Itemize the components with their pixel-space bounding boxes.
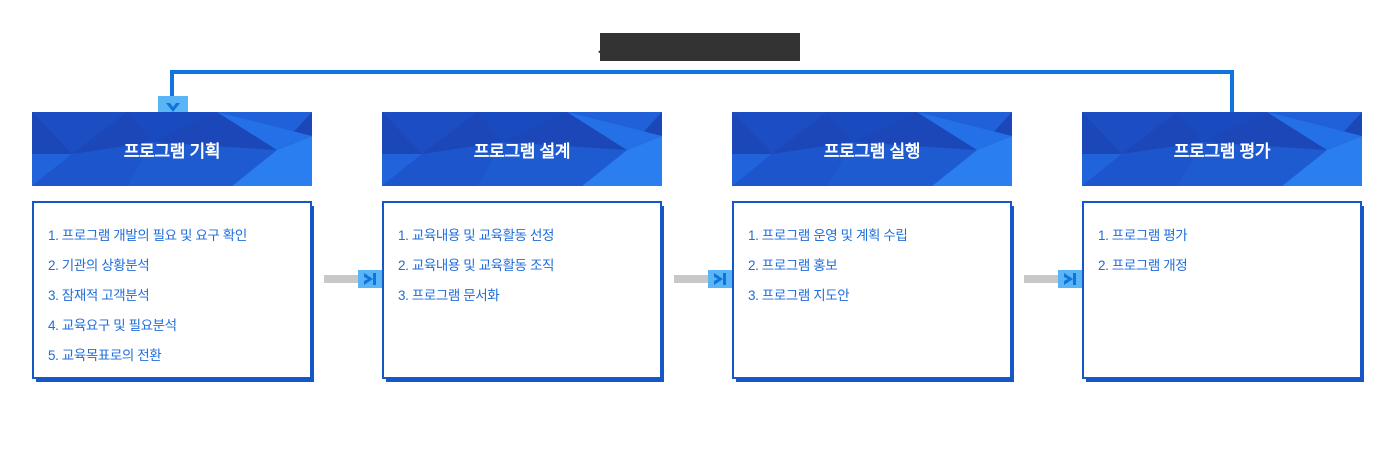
- top-connector-right-drop: [1230, 70, 1234, 112]
- diagram-title: 프로그램: [560, 26, 860, 68]
- list-item: 1. 프로그램 평가: [1084, 221, 1360, 251]
- stage-body-1: 1. 프로그램 개발의 필요 및 요구 확인 2. 기관의 상황분석 3. 잠재…: [32, 201, 312, 379]
- stage-card-4[interactable]: 프로그램 평가 1. 프로그램 평가 2. 프로그램 개정: [1082, 112, 1362, 379]
- list-item: 2. 프로그램 개정: [1084, 251, 1360, 281]
- stage-item-list-1: 1. 프로그램 개발의 필요 및 요구 확인 2. 기관의 상황분석 3. 잠재…: [34, 203, 310, 371]
- right-arrow-icon: [1058, 270, 1082, 288]
- connector-arrow-1-2: [324, 270, 382, 288]
- list-item: 1. 프로그램 개발의 필요 및 요구 확인: [34, 221, 310, 251]
- list-item: 1. 교육내용 및 교육활동 선정: [384, 221, 660, 251]
- stage-header-2: 프로그램 설계: [382, 112, 662, 186]
- list-item: 2. 프로그램 홍보: [734, 251, 1010, 281]
- connector-arrow-2-3: [674, 270, 732, 288]
- top-connector-left-drop: [170, 70, 174, 98]
- stage-header-label-2: 프로그램 설계: [474, 137, 570, 162]
- stage-card-3[interactable]: 프로그램 실행 1. 프로그램 운영 및 계획 수립 2. 프로그램 홍보 3.…: [732, 112, 1012, 379]
- list-item: 4. 교육요구 및 필요분석: [34, 311, 310, 341]
- list-item: 3. 프로그램 문서화: [384, 281, 660, 311]
- stage-body-2: 1. 교육내용 및 교육활동 선정 2. 교육내용 및 교육활동 조직 3. 프…: [382, 201, 662, 379]
- stage-card-1[interactable]: 프로그램 기획 1. 프로그램 개발의 필요 및 요구 확인 2. 기관의 상황…: [32, 112, 312, 379]
- stage-header-label-4: 프로그램 평가: [1174, 137, 1270, 162]
- stage-card-2[interactable]: 프로그램 설계 1. 교육내용 및 교육활동 선정 2. 교육내용 및 교육활동…: [382, 112, 662, 379]
- stage-header-1: 프로그램 기획: [32, 112, 312, 186]
- list-item: 3. 프로그램 지도안: [734, 281, 1010, 311]
- stage-body-3: 1. 프로그램 운영 및 계획 수립 2. 프로그램 홍보 3. 프로그램 지도…: [732, 201, 1012, 379]
- right-arrow-icon: [358, 270, 382, 288]
- stage-item-list-3: 1. 프로그램 운영 및 계획 수립 2. 프로그램 홍보 3. 프로그램 지도…: [734, 203, 1010, 311]
- list-item: 3. 잠재적 고객분석: [34, 281, 310, 311]
- connector-arrow-3-4: [1024, 270, 1082, 288]
- stage-item-list-4: 1. 프로그램 평가 2. 프로그램 개정: [1084, 203, 1360, 281]
- title-redaction-block: [600, 33, 800, 61]
- stage-header-label-1: 프로그램 기획: [124, 137, 220, 162]
- list-item: 1. 프로그램 운영 및 계획 수립: [734, 221, 1010, 251]
- stage-item-list-2: 1. 교육내용 및 교육활동 선정 2. 교육내용 및 교육활동 조직 3. 프…: [384, 203, 660, 311]
- right-arrow-icon: [708, 270, 732, 288]
- stage-header-3: 프로그램 실행: [732, 112, 1012, 186]
- stage-header-label-3: 프로그램 실행: [824, 137, 920, 162]
- top-connector-line: [170, 70, 1234, 74]
- list-item: 2. 기관의 상황분석: [34, 251, 310, 281]
- list-item: 2. 교육내용 및 교육활동 조직: [384, 251, 660, 281]
- list-item: 5. 교육목표로의 전환: [34, 341, 310, 371]
- stage-body-4: 1. 프로그램 평가 2. 프로그램 개정: [1082, 201, 1362, 379]
- stage-header-4: 프로그램 평가: [1082, 112, 1362, 186]
